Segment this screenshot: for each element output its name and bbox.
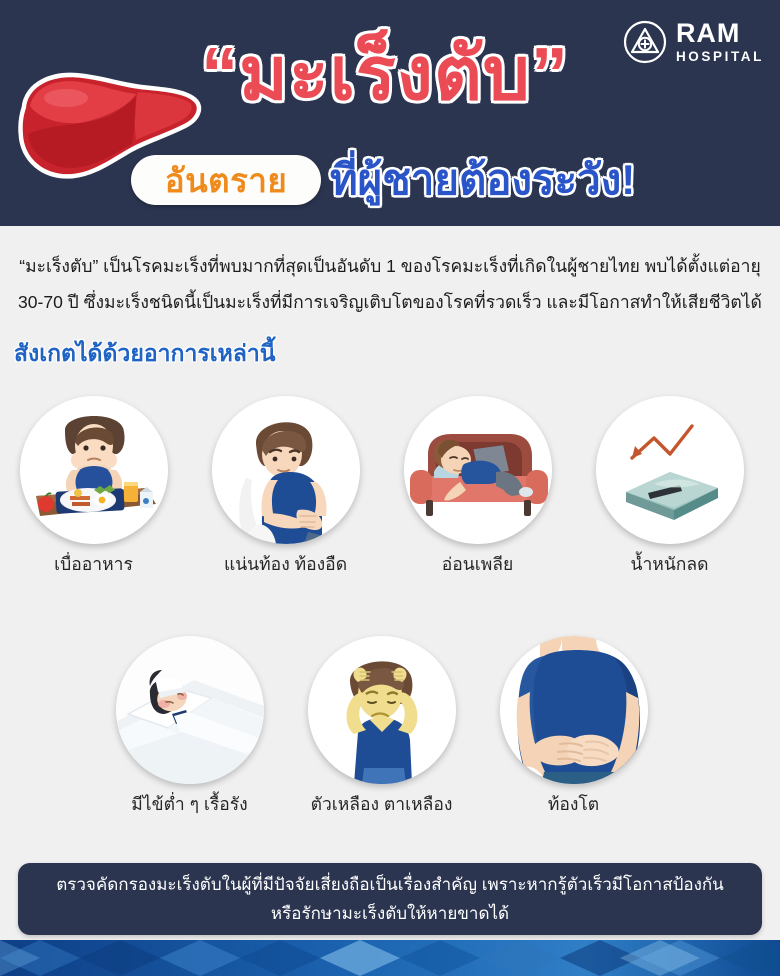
header-banner: “มะเร็งตับ” อันตราย ที่ผู้ชายต้องระวัง! … [0, 0, 780, 226]
jaundiced-boy-holding-head-icon [308, 636, 456, 784]
symptom-item-jaundice: ตัวเหลือง ตาเหลือง [294, 636, 469, 816]
symptom-item-fatigue: อ่อนเพลีย [390, 396, 565, 576]
person-in-bed-fever-icon [116, 636, 264, 784]
danger-badge: อันตราย [131, 155, 321, 205]
symptom-label: เบื่ออาหาร [6, 554, 181, 576]
ram-hospital-logo: RAM HOSPITAL [623, 20, 764, 64]
symptom-item-weight-loss: น้ำหนักลด [582, 396, 757, 576]
logo-subname: HOSPITAL [676, 50, 764, 64]
page-subtitle: ที่ผู้ชายต้องระวัง! [330, 152, 690, 208]
symptom-label: แน่นท้อง ท้องอืด [198, 554, 373, 576]
footer-line-1: ตรวจคัดกรองมะเร็งตับในผู้ที่มีปัจจัยเสี่… [56, 870, 724, 899]
boy-refusing-food-tray-icon [20, 396, 168, 544]
symptom-label: อ่อนเพลีย [390, 554, 565, 576]
page-title: “มะเร็งตับ” [150, 18, 620, 130]
symptom-label: ท้องโต [486, 794, 661, 816]
symptom-item-appetite: เบื่ออาหาร [6, 396, 181, 576]
intro-line-1: “มะเร็งตับ” เป็นโรคมะเร็งที่พบมากที่สุดเ… [14, 248, 766, 284]
section-heading: สังเกตได้ด้วยอาการเหล่านี้ [14, 342, 276, 365]
danger-badge-label: อันตราย [165, 164, 287, 197]
footer-line-2: หรือรักษามะเร็งตับให้หายขาดได้ [271, 899, 509, 928]
swollen-abdomen-icon [500, 636, 648, 784]
symptom-item-chronic-fever: มีไข้ต่ำ ๆ เรื้อรัง [102, 636, 277, 816]
logo-name: RAM [676, 20, 764, 47]
intro-line-2: 30-70 ปี ซึ่งมะเร็งชนิดนี้เป็นมะเร็งที่ม… [14, 284, 766, 320]
boy-holding-stomach-icon [212, 396, 360, 544]
weight-scale-down-arrow-icon [596, 396, 744, 544]
symptom-label: ตัวเหลือง ตาเหลือง [294, 794, 469, 816]
decorative-bottom-band [0, 940, 780, 976]
footer-callout: ตรวจคัดกรองมะเร็งตับในผู้ที่มีปัจจัยเสี่… [18, 863, 762, 935]
intro-paragraph: “มะเร็งตับ” เป็นโรคมะเร็งที่พบมากที่สุดเ… [14, 248, 766, 320]
person-lying-on-couch-icon [404, 396, 552, 544]
symptom-item-swollen-abdomen: ท้องโต [486, 636, 661, 816]
symptom-label: น้ำหนักลด [582, 554, 757, 576]
ram-logo-icon [623, 20, 667, 64]
symptom-label: มีไข้ต่ำ ๆ เรื้อรัง [102, 794, 277, 816]
symptom-item-bloating: แน่นท้อง ท้องอืด [198, 396, 373, 576]
